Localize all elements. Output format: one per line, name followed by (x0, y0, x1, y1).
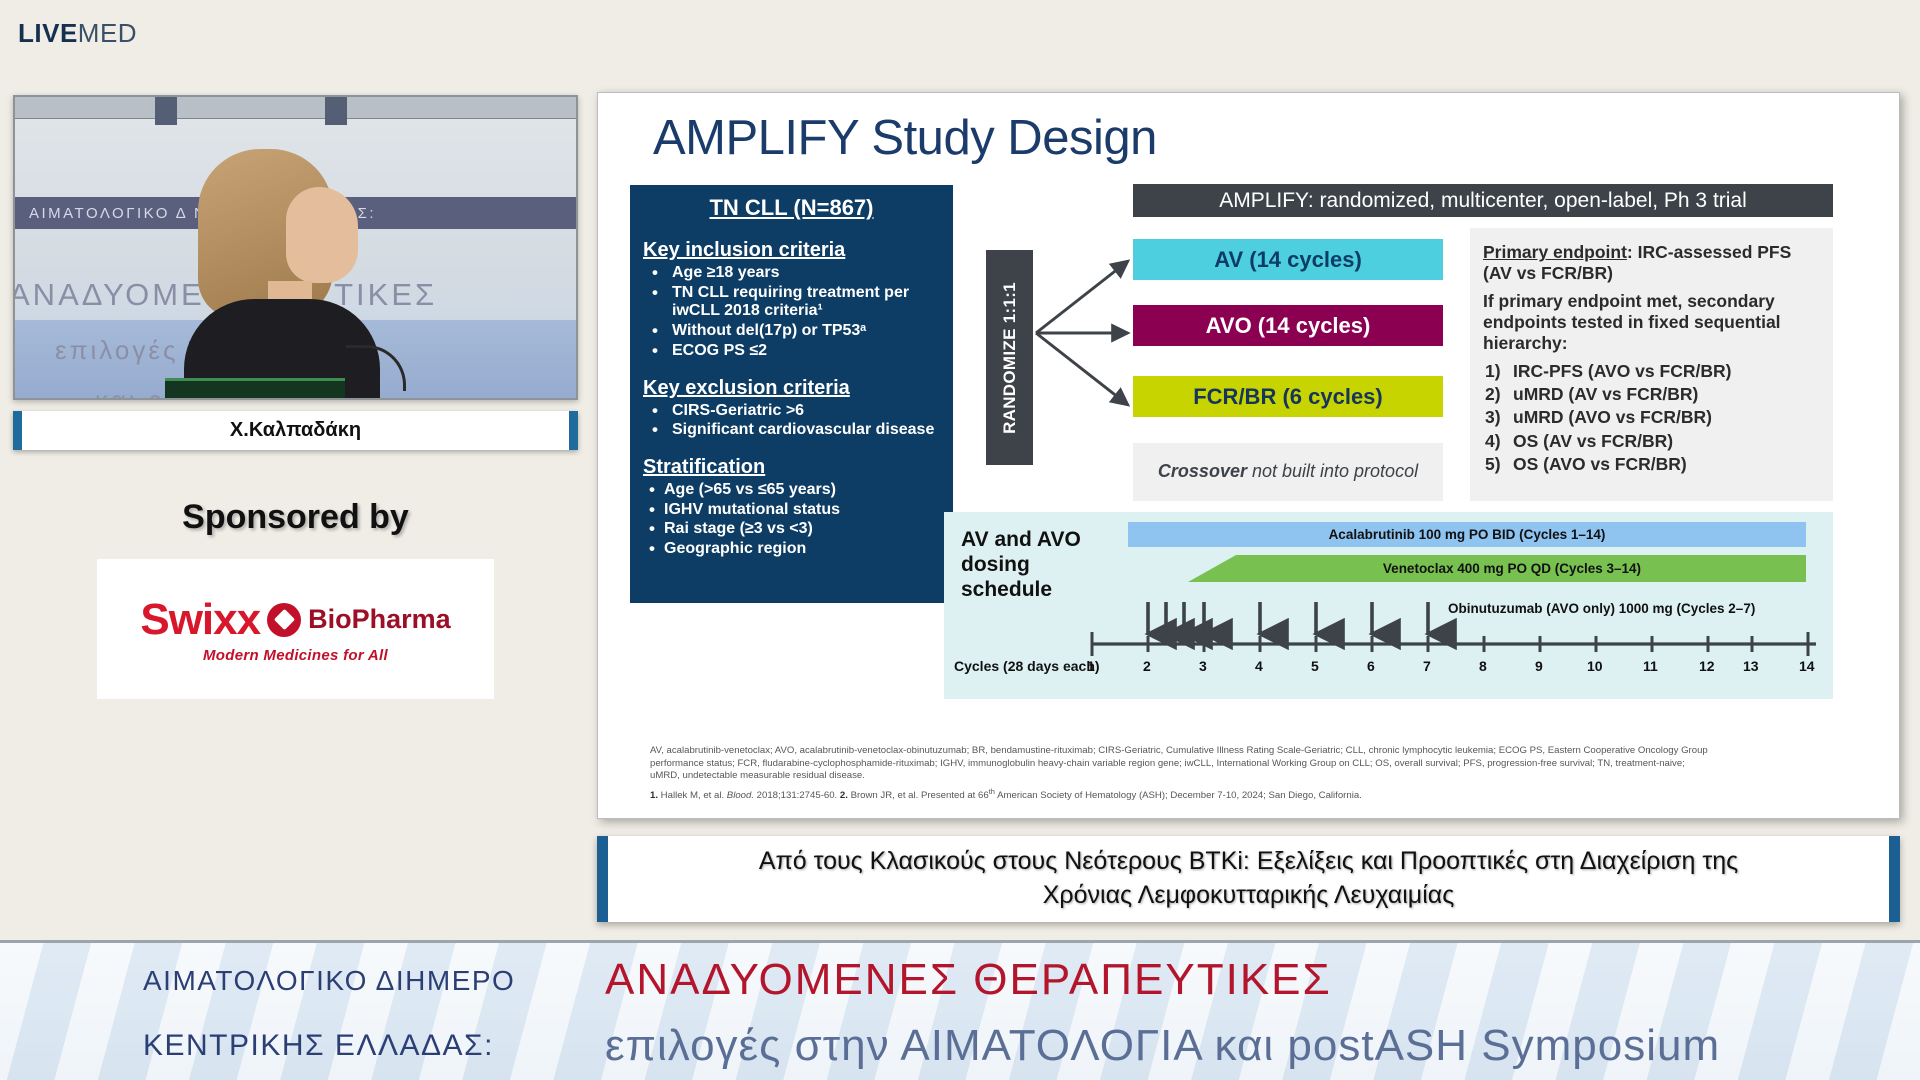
list-text: OS (AVO vs FCR/BR) (1513, 454, 1687, 474)
livemed-logo-bold: LIVE (18, 18, 78, 49)
venetoclax-bar: Venetoclax 400 mg PO QD (Cycles 3–14) (1188, 555, 1806, 582)
list-number: 2) (1485, 384, 1501, 405)
exclusion-criteria-list: CIRS-Geriatric >6 Significant cardiovasc… (647, 402, 940, 440)
cycle-tick: 7 (1423, 658, 1431, 674)
slide-footnotes: AV, acalabrutinib-venetoclax; AVO, acala… (650, 745, 1860, 803)
ref1-number: 1. (650, 790, 658, 801)
tn-cll-heading: TN CLL (N=867) (643, 195, 940, 221)
banner-left-line1: ΑΙΜΑΤΟΛΟΓΙΚΟ ΔΙΗΜΕΡΟ (143, 965, 515, 997)
list-number: 5) (1485, 454, 1501, 475)
list-text: uMRD (AVO vs FCR/BR) (1513, 407, 1712, 427)
tn-cll-panel: TN CLL (N=867) Key inclusion criteria Ag… (630, 185, 953, 603)
cycles-caption: Cycles (28 days each) (954, 658, 1100, 674)
list-item: Age (>65 vs ≤65 years) (647, 481, 940, 500)
cycle-tick: 8 (1479, 658, 1487, 674)
list-text: uMRD (AV vs FCR/BR) (1513, 384, 1698, 404)
primary-endpoint-line: Primary endpoint: IRC-assessed PFS (AV v… (1483, 242, 1820, 285)
ceiling-strip (15, 97, 576, 119)
list-item: 2)uMRD (AV vs FCR/BR) (1483, 384, 1820, 405)
trial-header-label: AMPLIFY: randomized, multicenter, open-l… (1219, 189, 1747, 213)
speaker-video-thumbnail[interactable]: ΑΝΑΔΥΟΜΕ ΡΑΠΕΥΤΙΚΕΣ επιλογές ΤΟΛΟΓΙΑ και… (13, 95, 578, 400)
cycle-tick: 14 (1799, 658, 1815, 674)
speaker-person (190, 149, 390, 400)
arm-label: AV (14 cycles) (1214, 247, 1362, 273)
abbreviations-line3: uMRD, undetectable measurable residual d… (650, 770, 1860, 783)
banner-right-line1: ΑΝΑΔΥΟΜΕΝΕΣ ΘΕΡΑΠΕΥΤΙΚΕΣ (605, 955, 1332, 1005)
crossover-note: Crossover not built into protocol (1133, 443, 1443, 501)
list-item: 4)OS (AV vs FCR/BR) (1483, 431, 1820, 452)
references-line: 1. Hallek M, et al. Blood. 2018;131:2745… (650, 787, 1860, 803)
secondary-endpoints-list: 1)IRC-PFS (AVO vs FCR/BR) 2)uMRD (AV vs … (1483, 361, 1820, 476)
swixx-wordmark: Swixx (140, 595, 260, 645)
cycle-tick: 6 (1367, 658, 1375, 674)
sponsored-by-heading: Sponsored by (13, 498, 578, 537)
ref1-citation: 2018;131:2745-60. (754, 790, 840, 801)
crossover-bold-label: Crossover (1158, 461, 1247, 481)
arm-label: FCR/BR (6 cycles) (1193, 384, 1383, 410)
arm-box-fcr: FCR/BR (6 cycles) (1133, 376, 1443, 417)
swixx-diamond-icon (267, 603, 301, 637)
cycle-tick-labels: 1 2 3 4 5 6 7 8 9 10 11 12 13 14 (1084, 658, 1824, 676)
exclusion-criteria-heading: Key exclusion criteria (643, 377, 940, 400)
slide-title: AMPLIFY Study Design (653, 110, 1157, 166)
livemed-logo: LIVEMED (18, 18, 137, 49)
podium-laptop (165, 378, 345, 400)
dosing-schedule-panel: AV and AVO dosing schedule Acalabrutinib… (944, 512, 1833, 699)
arm-label: AVO (14 cycles) (1206, 313, 1371, 339)
event-banner: ΑΙΜΑΤΟΛΟΓΙΚΟ ΔΙΗΜΕΡΟ ΚΕΝΤΡΙΚΗΣ ΕΛΛΑΔΑΣ: … (0, 940, 1920, 1080)
list-number: 4) (1485, 431, 1501, 452)
swixx-biopharma-label: BioPharma (308, 604, 451, 635)
cycle-tick: 13 (1743, 658, 1759, 674)
acalabrutinib-label: Acalabrutinib 100 mg PO BID (Cycles 1–14… (1329, 527, 1606, 542)
speaker-name-bar: Χ.Καλπαδάκη (13, 411, 578, 450)
cycle-tick: 1 (1087, 658, 1095, 674)
primary-endpoint-label: Primary endpoint (1483, 242, 1627, 262)
list-item: Without del(17p) or TP53ᵃ (647, 322, 940, 341)
ceiling-mount-right (325, 97, 347, 125)
left-column: ΑΝΑΔΥΟΜΕ ΡΑΠΕΥΤΙΚΕΣ επιλογές ΤΟΛΟΓΙΑ και… (13, 95, 578, 699)
cycle-tick: 4 (1255, 658, 1263, 674)
list-item: 3)uMRD (AVO vs FCR/BR) (1483, 407, 1820, 428)
stratification-heading: Stratification (643, 456, 940, 479)
crossover-rest-label: not built into protocol (1247, 461, 1418, 481)
venetoclax-label: Venetoclax 400 mg PO QD (Cycles 3–14) (1383, 561, 1641, 576)
ref1-authors: Hallek M, et al. (658, 790, 727, 801)
banner-right-line2: επιλογές στην ΑΙΜΑΤΟΛΟΓΙΑ και postASH Sy… (605, 1021, 1720, 1071)
arm-box-avo: AVO (14 cycles) (1133, 305, 1443, 346)
cycle-tick: 10 (1587, 658, 1603, 674)
cycles-timeline (1084, 588, 1824, 668)
list-item: IGHV mutational status (647, 501, 940, 520)
banner-left-line2: ΚΕΝΤΡΙΚΗΣ ΕΛΛΑΔΑΣ: (143, 1029, 494, 1063)
list-item: TN CLL requiring treatment per iwCLL 201… (647, 284, 940, 321)
session-title-line1: Από τους Κλασικούς στους Νεότερους BTKi:… (759, 845, 1738, 879)
cycle-tick: 12 (1699, 658, 1715, 674)
inclusion-criteria-heading: Key inclusion criteria (643, 239, 940, 262)
trial-header-bar: AMPLIFY: randomized, multicenter, open-l… (1133, 184, 1833, 217)
list-text: IRC-PFS (AVO vs FCR/BR) (1513, 361, 1731, 381)
stratification-list: Age (>65 vs ≤65 years) IGHV mutational s… (647, 481, 940, 559)
list-item: ECOG PS ≤2 (647, 342, 940, 361)
endpoints-panel: Primary endpoint: IRC-assessed PFS (AV v… (1470, 228, 1833, 501)
list-item: 5)OS (AVO vs FCR/BR) (1483, 454, 1820, 475)
sponsor-logo-card: Swixx BioPharma Modern Medicines for All (97, 559, 494, 699)
swixx-logo: Swixx BioPharma Modern Medicines for All (140, 595, 450, 664)
cycle-tick: 5 (1311, 658, 1319, 674)
inclusion-criteria-list: Age ≥18 years TN CLL requiring treatment… (647, 264, 940, 361)
arm-box-av: AV (14 cycles) (1133, 239, 1443, 280)
list-item: Age ≥18 years (647, 264, 940, 283)
list-item: CIRS-Geriatric >6 (647, 402, 940, 421)
ref2-number: 2. (840, 790, 848, 801)
cycle-tick: 3 (1199, 658, 1207, 674)
ref2-citation: American Society of Hematology (ASH); De… (995, 790, 1362, 801)
session-title-line2: Χρόνιας Λεμφοκυτταρικής Λευχαιμίας (1043, 879, 1455, 913)
speaker-face (286, 187, 358, 283)
list-item: Significant cardiovascular disease (647, 421, 940, 440)
cycle-tick: 2 (1143, 658, 1151, 674)
speaker-name-label: Χ.Καλπαδάκη (230, 419, 361, 442)
list-item: 1)IRC-PFS (AVO vs FCR/BR) (1483, 361, 1820, 382)
ref2-authors: Brown JR, et al. Presented at 66 (848, 790, 989, 801)
list-number: 1) (1485, 361, 1501, 382)
ref1-journal: Blood. (727, 790, 754, 801)
list-number: 3) (1485, 407, 1501, 428)
abbreviations-line2: performance status; FCR, fludarabine-cyc… (650, 758, 1860, 771)
ceiling-mount-left (155, 97, 177, 125)
presentation-slide[interactable]: AMPLIFY Study Design TN CLL (N=867) Key … (597, 92, 1900, 819)
swixx-tagline: Modern Medicines for All (140, 647, 450, 664)
abbreviations-line1: AV, acalabrutinib-venetoclax; AVO, acala… (650, 745, 1860, 758)
list-item: Rai stage (≥3 vs <3) (647, 520, 940, 539)
secondary-endpoints-intro: If primary endpoint met, secondary endpo… (1483, 291, 1820, 355)
list-item: Geographic region (647, 540, 940, 559)
cycle-tick: 11 (1643, 658, 1658, 674)
livemed-logo-light: MED (78, 18, 137, 49)
cycle-tick: 9 (1535, 658, 1543, 674)
acalabrutinib-bar: Acalabrutinib 100 mg PO BID (Cycles 1–14… (1128, 522, 1806, 547)
list-text: OS (AV vs FCR/BR) (1513, 431, 1673, 451)
dosing-schedule-label: AV and AVO dosing schedule (961, 528, 1101, 602)
session-title-bar: Από τους Κλασικούς στους Νεότερους BTKi:… (597, 836, 1900, 922)
